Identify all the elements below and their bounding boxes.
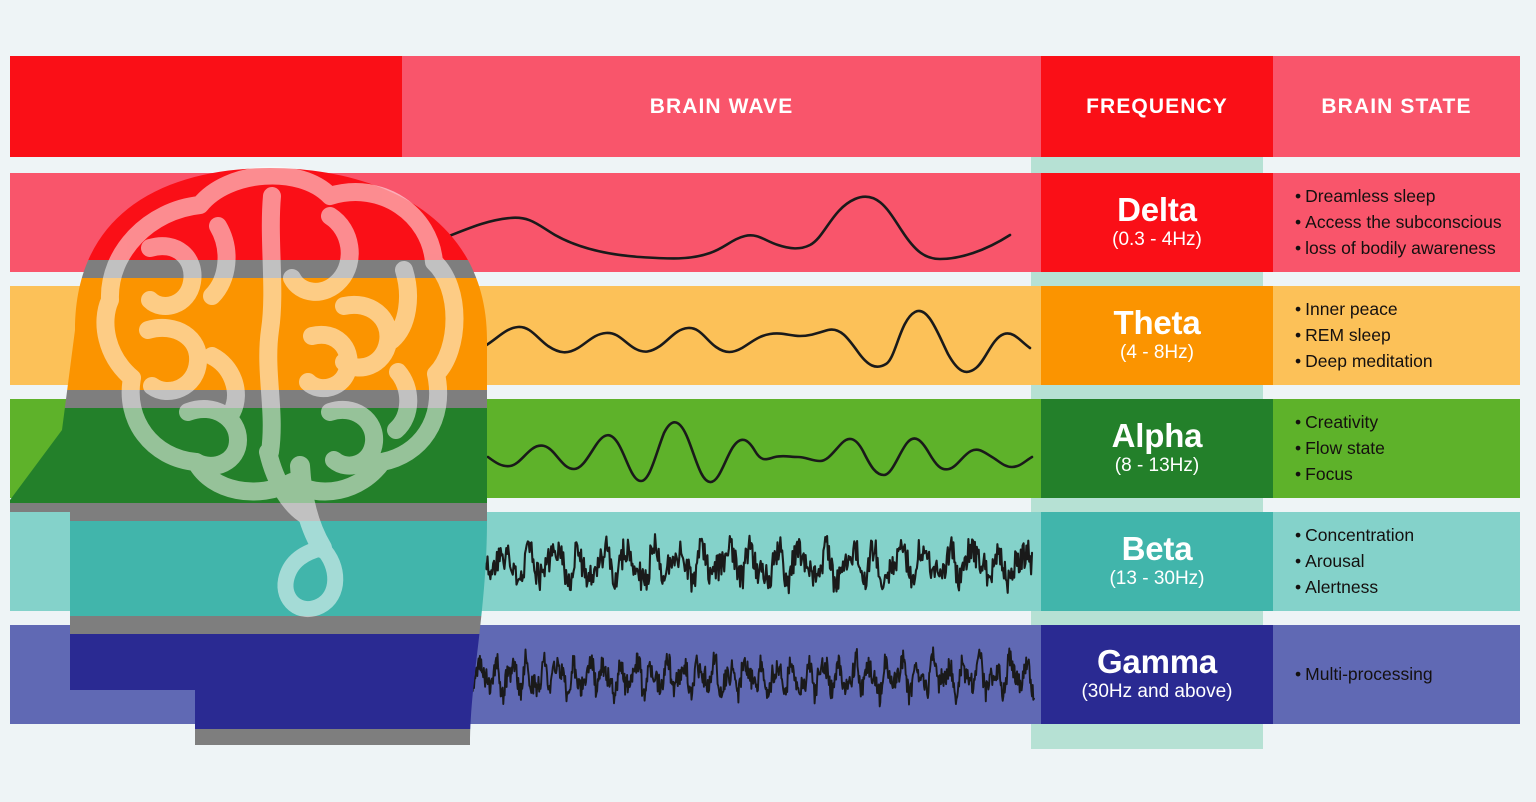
table-row: Delta (0.3 - 4Hz) •Dreamless sleep •Acce… [10, 173, 1520, 272]
head-divider-band [0, 729, 560, 747]
bullet-icon: • [1295, 351, 1301, 371]
brain-state-cell-gamma: •Multi-processing [1273, 625, 1520, 724]
gamma-waveform-icon [10, 625, 1041, 724]
state-text: Creativity [1305, 412, 1378, 432]
frequency-cell-gamma: Gamma (30Hz and above) [1041, 625, 1273, 724]
state-text: loss of bodily awareness [1305, 238, 1496, 258]
list-item: •Deep meditation [1295, 348, 1520, 374]
alpha-waveform-icon [10, 399, 1041, 498]
state-text: Inner peace [1305, 299, 1397, 319]
list-item: •Arousal [1295, 548, 1520, 574]
bullet-icon: • [1295, 664, 1301, 684]
state-text: Multi-processing [1305, 664, 1432, 684]
beta-waveform-icon [10, 512, 1041, 611]
wave-name-label: Theta [1113, 306, 1200, 340]
wave-frequency-label: (13 - 30Hz) [1109, 567, 1204, 591]
bullet-icon: • [1295, 299, 1301, 319]
brain-state-cell-theta: •Inner peace •REM sleep •Deep meditation [1273, 286, 1520, 385]
infographic-canvas: BRAIN WAVE FREQUENCY BRAIN STATE Delta (… [0, 0, 1536, 802]
state-text: Flow state [1305, 438, 1385, 458]
wave-frequency-label: (30Hz and above) [1081, 680, 1232, 704]
table-row: Alpha (8 - 13Hz) •Creativity •Flow state… [10, 399, 1520, 498]
list-item: •Creativity [1295, 409, 1520, 435]
list-item: •loss of bodily awareness [1295, 235, 1520, 261]
list-item: •Multi-processing [1295, 661, 1520, 687]
state-text: Dreamless sleep [1305, 186, 1435, 206]
bullet-icon: • [1295, 551, 1301, 571]
wave-cell-beta [10, 512, 1041, 611]
bullet-icon: • [1295, 238, 1301, 258]
theta-waveform-icon [10, 286, 1041, 385]
brain-state-cell-beta: •Concentration •Arousal •Alertness [1273, 512, 1520, 611]
table-row: Beta (13 - 30Hz) •Concentration •Arousal… [10, 512, 1520, 611]
state-text: Focus [1305, 464, 1353, 484]
bullet-icon: • [1295, 464, 1301, 484]
table-header-row: BRAIN WAVE FREQUENCY BRAIN STATE [10, 56, 1520, 157]
state-text: REM sleep [1305, 325, 1391, 345]
state-text: Alertness [1305, 577, 1378, 597]
frequency-cell-theta: Theta (4 - 8Hz) [1041, 286, 1273, 385]
table-row: Theta (4 - 8Hz) •Inner peace •REM sleep … [10, 286, 1520, 385]
list-item: •Concentration [1295, 522, 1520, 548]
bullet-icon: • [1295, 577, 1301, 597]
wave-cell-theta [10, 286, 1041, 385]
wave-name-label: Delta [1117, 193, 1197, 227]
list-item: •Access the subconscious [1295, 209, 1520, 235]
state-text: Concentration [1305, 525, 1414, 545]
wave-frequency-label: (0.3 - 4Hz) [1112, 228, 1202, 252]
wave-cell-alpha [10, 399, 1041, 498]
list-item: •Focus [1295, 461, 1520, 487]
list-item: •Dreamless sleep [1295, 183, 1520, 209]
header-cell-brain-wave: BRAIN WAVE [402, 56, 1041, 157]
state-text: Arousal [1305, 551, 1364, 571]
list-item: •REM sleep [1295, 322, 1520, 348]
bullet-icon: • [1295, 186, 1301, 206]
state-text: Deep meditation [1305, 351, 1432, 371]
header-cell-brain-state: BRAIN STATE [1273, 56, 1520, 157]
wave-cell-delta [10, 173, 1041, 272]
header-cell-blank [10, 56, 402, 157]
header-cell-frequency: FREQUENCY [1041, 56, 1273, 157]
wave-frequency-label: (8 - 13Hz) [1115, 454, 1199, 478]
wave-name-label: Alpha [1112, 419, 1203, 453]
delta-waveform-icon [10, 173, 1041, 272]
list-item: •Alertness [1295, 574, 1520, 600]
brain-state-cell-alpha: •Creativity •Flow state •Focus [1273, 399, 1520, 498]
wave-name-label: Gamma [1097, 645, 1217, 679]
bullet-icon: • [1295, 438, 1301, 458]
brain-state-cell-delta: •Dreamless sleep •Access the subconsciou… [1273, 173, 1520, 272]
state-text: Access the subconscious [1305, 212, 1502, 232]
wave-cell-gamma [10, 625, 1041, 724]
bullet-icon: • [1295, 325, 1301, 345]
frequency-cell-alpha: Alpha (8 - 13Hz) [1041, 399, 1273, 498]
bullet-icon: • [1295, 412, 1301, 432]
wave-frequency-label: (4 - 8Hz) [1120, 341, 1194, 365]
frequency-cell-delta: Delta (0.3 - 4Hz) [1041, 173, 1273, 272]
wave-name-label: Beta [1122, 532, 1193, 566]
list-item: •Flow state [1295, 435, 1520, 461]
table-row: Gamma (30Hz and above) •Multi-processing [10, 625, 1520, 724]
bullet-icon: • [1295, 525, 1301, 545]
list-item: •Inner peace [1295, 296, 1520, 322]
bullet-icon: • [1295, 212, 1301, 232]
frequency-cell-beta: Beta (13 - 30Hz) [1041, 512, 1273, 611]
